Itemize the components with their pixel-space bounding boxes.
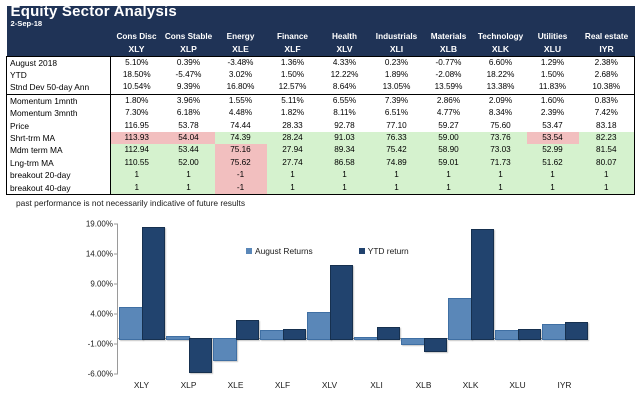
- x-axis-tick-label: XLY: [118, 380, 165, 390]
- sector-ticker-xlb: XLB: [423, 43, 475, 56]
- table-cell: 77.10: [371, 120, 423, 132]
- sector-header-xlk: Technology: [475, 31, 527, 43]
- table-row: YTD18.50%-5.47%3.02%1.50%12.22%1.89%-2.0…: [7, 69, 635, 81]
- table-cell: -3.48%: [215, 56, 267, 69]
- table-cell: 1.82%: [267, 107, 319, 119]
- sector-ticker-iyr: IYR: [579, 43, 635, 56]
- table-cell: 86.58: [319, 157, 371, 169]
- table-cell: 9.39%: [163, 81, 215, 94]
- table-cell: 1: [267, 182, 319, 195]
- table-cell: 4.48%: [215, 107, 267, 119]
- sector-header-xle: Energy: [215, 31, 267, 43]
- table-cell: 73.03: [475, 144, 527, 156]
- y-axis-tick-label: 4.00%: [90, 310, 113, 319]
- table-cell: 54.04: [163, 132, 215, 144]
- table-cell: 6.60%: [475, 56, 527, 69]
- legend-swatch-icon: [359, 248, 365, 254]
- table-cell: 89.34: [319, 144, 371, 156]
- title-row: Equity Sector Analysis: [7, 6, 635, 18]
- row-label: YTD: [7, 69, 111, 81]
- table-cell: 1: [319, 182, 371, 195]
- chart-bar: [377, 327, 401, 340]
- chart-bar: [518, 329, 542, 340]
- table-cell: 1: [371, 169, 423, 181]
- table-cell: 2.68%: [579, 69, 635, 81]
- table-cell: 1: [319, 169, 371, 181]
- row-label: Price: [7, 120, 111, 132]
- table-cell: 16.80%: [215, 81, 267, 94]
- table-cell: 1.50%: [267, 69, 319, 81]
- sector-analysis-page: Equity Sector Analysis 2-Sep-18 Cons Dis…: [0, 0, 640, 407]
- header-spacer-2: [7, 43, 111, 56]
- table-cell: 1: [475, 169, 527, 181]
- chart-bar: [119, 307, 143, 340]
- table-cell: 0.23%: [371, 56, 423, 69]
- y-axis-tick-label: -6.00%: [88, 370, 113, 379]
- chart-bar: [236, 320, 260, 340]
- table-cell: 18.22%: [475, 69, 527, 81]
- row-label: Stnd Dev 50-day Ann: [7, 81, 111, 94]
- table-cell: 11.83%: [527, 81, 579, 94]
- table-cell: 8.11%: [319, 107, 371, 119]
- table-cell: 1.50%: [527, 69, 579, 81]
- sector-ticker-xlu: XLU: [527, 43, 579, 56]
- table-cell: 53.78: [163, 120, 215, 132]
- table-cell: 6.51%: [371, 107, 423, 119]
- table-cell: 113.93: [111, 132, 163, 144]
- table-cell: 1: [423, 169, 475, 181]
- table-cell: 2.39%: [527, 107, 579, 119]
- table-cell: 1.36%: [267, 56, 319, 69]
- table-cell: 27.74: [267, 157, 319, 169]
- table-cell: 53.54: [527, 132, 579, 144]
- table-cell: 52.00: [163, 157, 215, 169]
- table-cell: 112.94: [111, 144, 163, 156]
- table-cell: 10.54%: [111, 81, 163, 94]
- sector-name-header-row: Cons DiscCons StableEnergyFinanceHealthI…: [7, 31, 635, 43]
- table-cell: 76.33: [371, 132, 423, 144]
- table-cell: 5.11%: [267, 94, 319, 107]
- header-spacer: [7, 31, 111, 43]
- table-cell: 81.54: [579, 144, 635, 156]
- chart-bar: [283, 329, 307, 340]
- table-cell: 18.50%: [111, 69, 163, 81]
- x-axis-tick-label: XLV: [306, 380, 353, 390]
- x-axis-tick-label: XLE: [212, 380, 259, 390]
- table-body: Equity Sector Analysis 2-Sep-18 Cons Dis…: [7, 6, 635, 195]
- table-cell: 51.62: [527, 157, 579, 169]
- row-label: Lng-trm MA: [7, 157, 111, 169]
- table-cell: 2.09%: [475, 94, 527, 107]
- table-cell: -0.77%: [423, 56, 475, 69]
- x-axis-tick-label: XLF: [259, 380, 306, 390]
- table-cell: 92.78: [319, 120, 371, 132]
- page-title: Equity Sector Analysis: [7, 6, 635, 18]
- y-axis-tick-label: 19.00%: [86, 220, 113, 229]
- table-cell: 74.89: [371, 157, 423, 169]
- table-cell: 75.60: [475, 120, 527, 132]
- chart-bar-group-iyr: IYR: [541, 224, 588, 374]
- table-cell: 1: [527, 169, 579, 181]
- table-cell: 4.77%: [423, 107, 475, 119]
- row-label: breakout 40-day: [7, 182, 111, 195]
- table-row: Shrt-trm MA113.9354.0474.3928.2491.0376.…: [7, 132, 635, 144]
- table-cell: 74.44: [215, 120, 267, 132]
- table-cell: 75.62: [215, 157, 267, 169]
- x-axis-tick-label: XLB: [400, 380, 447, 390]
- table-cell: 1: [475, 182, 527, 195]
- table-row: Price116.9553.7874.4428.3392.7877.1059.2…: [7, 120, 635, 132]
- table-cell: 1.29%: [527, 56, 579, 69]
- table-cell: 1.60%: [527, 94, 579, 107]
- row-label: breakout 20-day: [7, 169, 111, 181]
- sector-header-xlv: Health: [319, 31, 371, 43]
- chart-bar: [260, 330, 284, 340]
- sector-ticker-xle: XLE: [215, 43, 267, 56]
- table-cell: -5.47%: [163, 69, 215, 81]
- sector-header-xlf: Finance: [267, 31, 319, 43]
- chart-bar-group-xly: XLY: [118, 224, 165, 374]
- legend-label: YTD return: [368, 246, 409, 256]
- chart-bar: [354, 337, 378, 340]
- chart-bar: [142, 227, 166, 340]
- table-cell: 58.90: [423, 144, 475, 156]
- table-cell: 6.55%: [319, 94, 371, 107]
- chart-bar: [424, 338, 448, 352]
- table-cell: 116.95: [111, 120, 163, 132]
- sector-header-xly: Cons Disc: [111, 31, 163, 43]
- table-cell: 1: [267, 169, 319, 181]
- table-cell: 10.38%: [579, 81, 635, 94]
- table-cell: 4.33%: [319, 56, 371, 69]
- sector-header-xli: Industrials: [371, 31, 423, 43]
- date-row: 2-Sep-18: [7, 18, 635, 30]
- y-axis-tick-label: -1.00%: [88, 340, 113, 349]
- table-cell: 59.01: [423, 157, 475, 169]
- sector-header-iyr: Real estate: [579, 31, 635, 43]
- chart-bar: [307, 312, 331, 340]
- table-cell: -1: [215, 169, 267, 181]
- table-cell: 2.86%: [423, 94, 475, 107]
- table-cell: -1: [215, 182, 267, 195]
- table-cell: 80.07: [579, 157, 635, 169]
- table-cell: 13.05%: [371, 81, 423, 94]
- table-cell: 59.00: [423, 132, 475, 144]
- table-cell: 1: [527, 182, 579, 195]
- table-cell: 2.38%: [579, 56, 635, 69]
- table-cell: 53.47: [527, 120, 579, 132]
- chart-bar: [166, 336, 190, 340]
- table-cell: 7.30%: [111, 107, 163, 119]
- table-cell: 1: [163, 182, 215, 195]
- chart-bar: [213, 338, 237, 361]
- table-row: Stnd Dev 50-day Ann10.54%9.39%16.80%12.5…: [7, 81, 635, 94]
- equity-sector-table: Equity Sector Analysis 2-Sep-18 Cons Dis…: [6, 6, 635, 195]
- chart-bar-group-xlu: XLU: [494, 224, 541, 374]
- table-cell: 13.59%: [423, 81, 475, 94]
- chart-bar: [189, 338, 213, 373]
- chart-bar-group-xlk: XLK: [447, 224, 494, 374]
- table-cell: 1.89%: [371, 69, 423, 81]
- sector-ticker-xli: XLI: [371, 43, 423, 56]
- table-cell: 91.03: [319, 132, 371, 144]
- chart-bar: [330, 265, 354, 340]
- table-cell: 74.39: [215, 132, 267, 144]
- table-cell: 7.42%: [579, 107, 635, 119]
- chart-bar: [495, 330, 519, 340]
- table-cell: 1: [371, 182, 423, 195]
- row-label: August 2018: [7, 56, 111, 69]
- table-cell: 28.33: [267, 120, 319, 132]
- table-cell: 73.76: [475, 132, 527, 144]
- report-date: 2-Sep-18: [7, 18, 635, 30]
- row-label: Momentum 1mnth: [7, 94, 111, 107]
- disclaimer-text: past performance is not necessarily indi…: [16, 198, 245, 208]
- table-cell: 28.24: [267, 132, 319, 144]
- table-row: Momentum 3mnth7.30%6.18%4.48%1.82%8.11%6…: [7, 107, 635, 119]
- chart-legend: August ReturnsYTD return: [246, 246, 409, 256]
- sector-ticker-header-row: XLYXLPXLEXLFXLVXLIXLBXLKXLUIYR: [7, 43, 635, 56]
- x-axis-tick-label: IYR: [541, 380, 588, 390]
- row-label: Shrt-trm MA: [7, 132, 111, 144]
- table-cell: 82.23: [579, 132, 635, 144]
- table-cell: 1.55%: [215, 94, 267, 107]
- table-cell: 1: [111, 182, 163, 195]
- x-axis-tick-label: XLP: [165, 380, 212, 390]
- y-axis-tick-label: 9.00%: [90, 280, 113, 289]
- table-cell: 27.94: [267, 144, 319, 156]
- chart-bar: [448, 298, 472, 340]
- x-axis-tick-label: XLI: [353, 380, 400, 390]
- chart-bar: [542, 324, 566, 340]
- table-cell: 6.18%: [163, 107, 215, 119]
- sector-ticker-xly: XLY: [111, 43, 163, 56]
- legend-swatch-icon: [246, 248, 252, 254]
- table-cell: 59.27: [423, 120, 475, 132]
- sector-ticker-xlp: XLP: [163, 43, 215, 56]
- table-row: Mdm term MA112.9453.4475.1627.9489.3475.…: [7, 144, 635, 156]
- row-label: Momentum 3mnth: [7, 107, 111, 119]
- table-cell: 1: [579, 182, 635, 195]
- sector-header-xlp: Cons Stable: [163, 31, 215, 43]
- table-row: Momentum 1mnth1.80%3.96%1.55%5.11%6.55%7…: [7, 94, 635, 107]
- table-row: Lng-trm MA110.5552.0075.6227.7486.5874.8…: [7, 157, 635, 169]
- equity-sector-table-wrap: Equity Sector Analysis 2-Sep-18 Cons Dis…: [6, 6, 634, 195]
- table-cell: -2.08%: [423, 69, 475, 81]
- chart-bar: [565, 322, 589, 340]
- sector-ticker-xlv: XLV: [319, 43, 371, 56]
- table-row: August 20185.10%0.39%-3.48%1.36%4.33%0.2…: [7, 56, 635, 69]
- table-cell: 53.44: [163, 144, 215, 156]
- table-cell: 1: [163, 169, 215, 181]
- sector-ticker-xlf: XLF: [267, 43, 319, 56]
- sector-header-xlu: Utilities: [527, 31, 579, 43]
- table-row: breakout 40-day11-11111111: [7, 182, 635, 195]
- table-cell: 0.83%: [579, 94, 635, 107]
- table-cell: 8.64%: [319, 81, 371, 94]
- x-axis-tick-label: XLK: [447, 380, 494, 390]
- sector-header-xlb: Materials: [423, 31, 475, 43]
- table-cell: 75.16: [215, 144, 267, 156]
- legend-item: August Returns: [246, 246, 313, 256]
- table-cell: 110.55: [111, 157, 163, 169]
- table-cell: 1: [111, 169, 163, 181]
- table-cell: 52.99: [527, 144, 579, 156]
- table-cell: 71.73: [475, 157, 527, 169]
- table-cell: 7.39%: [371, 94, 423, 107]
- chart-bar: [471, 229, 495, 340]
- table-cell: 3.96%: [163, 94, 215, 107]
- y-axis-tick-label: 14.00%: [86, 250, 113, 259]
- row-label: Mdm term MA: [7, 144, 111, 156]
- table-cell: 1.80%: [111, 94, 163, 107]
- sector-ticker-xlk: XLK: [475, 43, 527, 56]
- chart-bar: [401, 338, 425, 345]
- table-cell: 8.34%: [475, 107, 527, 119]
- table-cell: 3.02%: [215, 69, 267, 81]
- table-cell: 12.57%: [267, 81, 319, 94]
- legend-label: August Returns: [255, 246, 313, 256]
- table-row: breakout 20-day11-11111111: [7, 169, 635, 181]
- table-cell: 75.42: [371, 144, 423, 156]
- table-cell: 1: [423, 182, 475, 195]
- chart-bar-group-xlp: XLP: [165, 224, 212, 374]
- table-cell: 83.18: [579, 120, 635, 132]
- table-cell: 13.38%: [475, 81, 527, 94]
- table-cell: 12.22%: [319, 69, 371, 81]
- x-axis-tick-label: XLU: [494, 380, 541, 390]
- returns-bar-chart: 19.00%14.00%9.00%4.00%-1.00%-6.00%XLYXLP…: [0, 214, 640, 407]
- table-cell: 5.10%: [111, 56, 163, 69]
- legend-item: YTD return: [359, 246, 409, 256]
- table-cell: 1: [579, 169, 635, 181]
- table-cell: 0.39%: [163, 56, 215, 69]
